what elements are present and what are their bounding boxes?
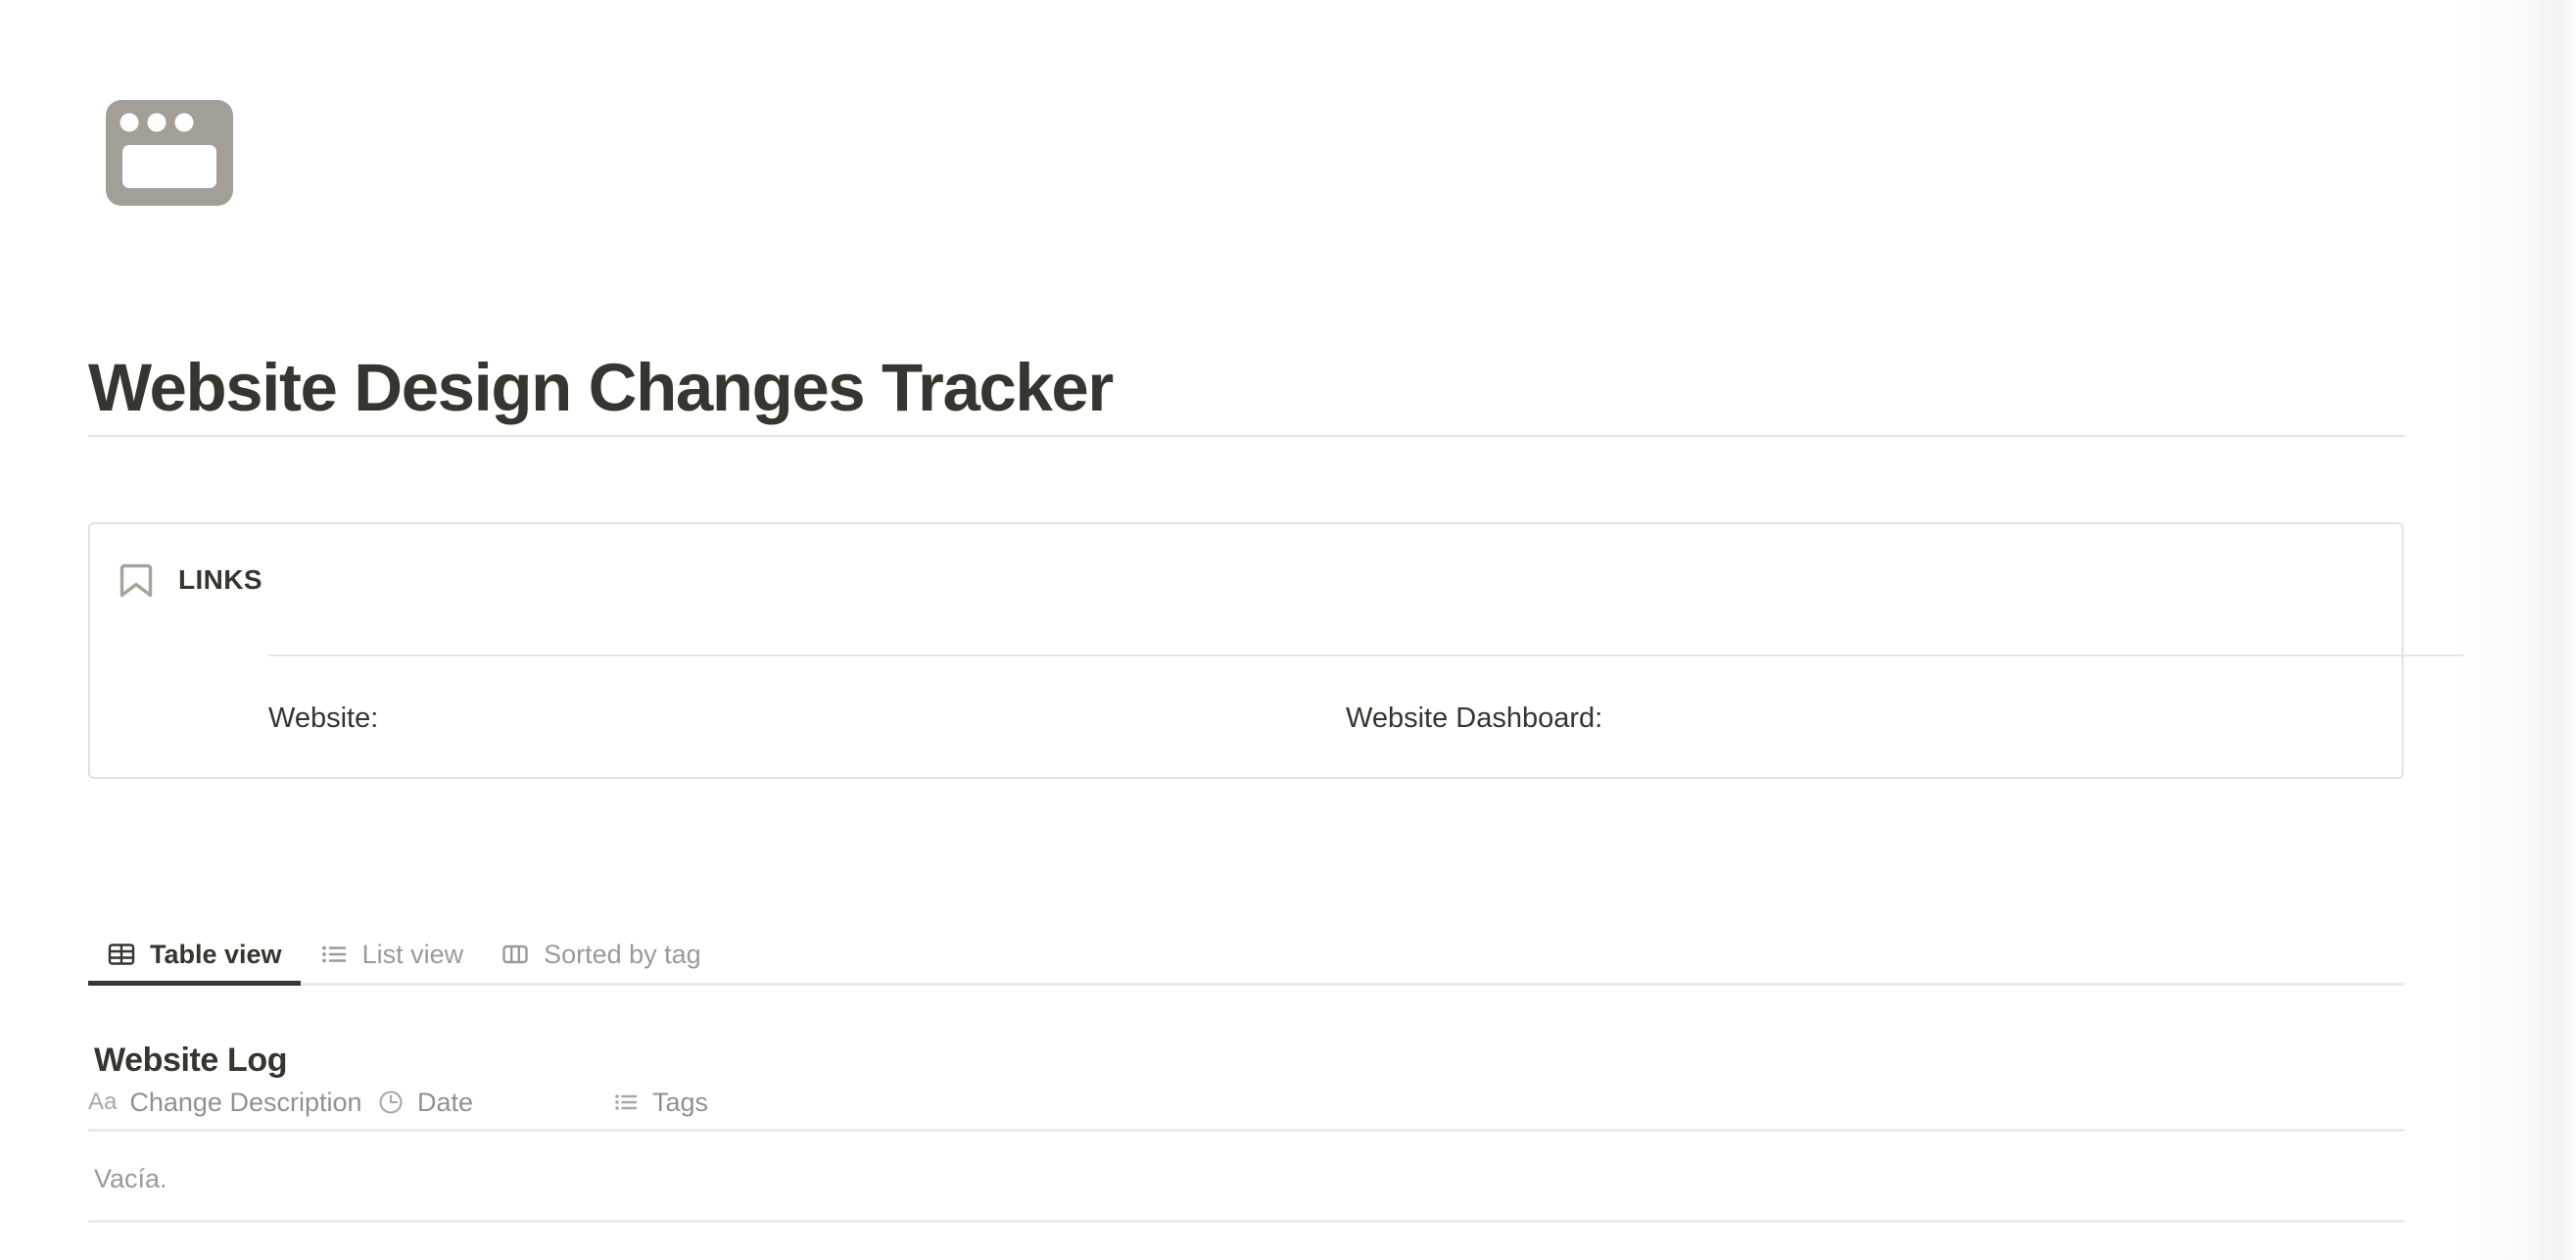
- tab-sorted-by-tag[interactable]: Sorted by tag: [482, 926, 720, 983]
- title-divider: [88, 435, 2405, 437]
- database-view-tabs: Table view List view: [88, 926, 720, 983]
- callout-columns: Website: Website Dashboard:: [268, 697, 2423, 740]
- tab-table-view[interactable]: Table view: [88, 926, 301, 983]
- page-title[interactable]: Website Design Changes Tracker: [88, 351, 1113, 425]
- column-header-date-label: Date: [417, 1088, 473, 1118]
- tab-list-view-label: List view: [362, 940, 464, 970]
- column-header-tags[interactable]: Tags: [612, 1075, 708, 1130]
- column-header-date[interactable]: Date: [377, 1075, 612, 1130]
- tabs-divider: [88, 983, 2405, 986]
- clock-icon: [377, 1089, 405, 1116]
- callout-header: LINKS: [119, 561, 262, 599]
- column-header-tags-label: Tags: [652, 1088, 708, 1118]
- browser-window-icon[interactable]: [106, 100, 233, 206]
- column-header-change-description-label: Change Description: [129, 1088, 361, 1118]
- database-column-headers: Aa Change Description Date: [88, 1075, 2405, 1130]
- callout-column-website[interactable]: Website:: [268, 697, 1346, 740]
- multi-select-icon: [612, 1089, 640, 1116]
- table-empty-state[interactable]: Vacía.: [94, 1164, 167, 1194]
- bookmark-icon: [119, 561, 153, 599]
- tab-table-view-label: Table view: [150, 940, 282, 970]
- notion-page: Website Design Changes Tracker LINKS Web…: [0, 0, 2576, 1260]
- tab-list-view[interactable]: List view: [301, 926, 483, 983]
- callout-divider: [268, 654, 2464, 656]
- list-icon: [319, 940, 349, 969]
- board-icon: [501, 940, 530, 969]
- table-icon: [107, 940, 136, 969]
- table-row-divider-top: [88, 1129, 2405, 1132]
- column-header-change-description[interactable]: Aa Change Description: [88, 1075, 377, 1130]
- callout-column-website-dashboard[interactable]: Website Dashboard:: [1346, 697, 2423, 740]
- table-row-divider-bottom: [88, 1220, 2405, 1223]
- links-callout[interactable]: LINKS Website: Website Dashboard:: [88, 522, 2404, 779]
- tab-sorted-by-tag-label: Sorted by tag: [544, 940, 701, 970]
- right-edge-shading: [2449, 0, 2576, 1260]
- callout-title: LINKS: [178, 561, 262, 599]
- text-aa-icon: Aa: [88, 1089, 117, 1116]
- tab-active-underline: [88, 981, 301, 986]
